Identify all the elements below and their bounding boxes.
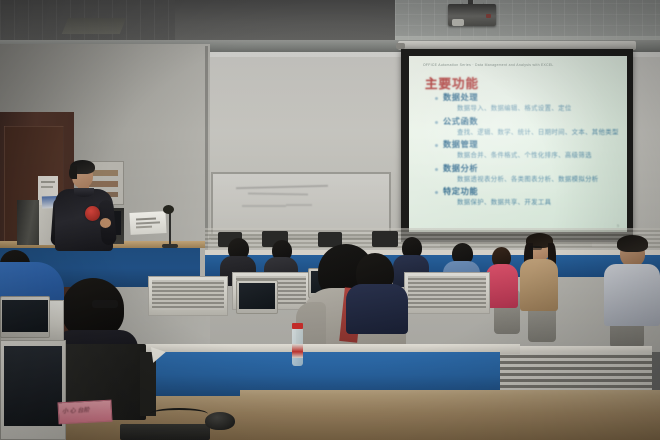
door-notice-line: [41, 181, 55, 183]
whiteboard-writing: [286, 204, 312, 206]
picture-band: [88, 181, 118, 187]
slide-section: 数据分析 数据透视表分析、各类图表分析、数据模拟分析: [435, 163, 625, 185]
slide-section-heading: 公式函数: [435, 116, 625, 128]
slide-section-detail: 数据导入、数据编辑、格式设置、定位: [435, 104, 625, 114]
monitor-screen: [239, 283, 275, 309]
projector-lens: [452, 19, 464, 26]
door-notice-line: [41, 186, 53, 188]
projector-indicator: [486, 14, 491, 18]
classroom-photo: OFFICE Automation Series · Data Manageme…: [0, 0, 660, 440]
microphone-icon[interactable]: [163, 205, 174, 214]
folded-paper-flag: [151, 345, 167, 363]
slide-section-heading: 特定功能: [435, 186, 625, 198]
partition-louver: [152, 280, 224, 310]
student-torso: [520, 259, 558, 311]
bottle-label: [292, 344, 303, 358]
keyboard[interactable]: [120, 424, 210, 440]
mouse-cable: [150, 408, 208, 420]
student-torso: [604, 264, 660, 326]
monitor-back: [372, 231, 398, 247]
instructor-collar: [74, 188, 94, 197]
student-torso: [346, 284, 408, 334]
instructor-shirt-logo: [85, 206, 100, 221]
slide-section-heading: 数据管理: [435, 139, 625, 151]
slide-section-detail: 数据保护、数据共享、开发工具: [435, 198, 625, 208]
student-hair: [617, 235, 648, 252]
student-head: [62, 278, 124, 338]
desktop-tower: [17, 200, 39, 245]
monitor-screen: [2, 300, 48, 332]
bottle-cap: [292, 323, 303, 329]
slide-bullet-list: 数据处理 数据导入、数据编辑、格式设置、定位 公式函数 查找、逻辑、数学、统计、…: [435, 92, 625, 210]
slide-section: 数据管理 数据合并、条件格式、个性化排序、高级筛选: [435, 139, 625, 161]
slide-section-detail: 数据透视表分析、各类图表分析、数据模拟分析: [435, 175, 625, 185]
slide-title: 主要功能: [425, 73, 479, 92]
projection-screen[interactable]: OFFICE Automation Series · Data Manageme…: [409, 56, 627, 232]
slide-section: 公式函数 查找、逻辑、数学、统计、日期时间、文本、其他类型: [435, 116, 625, 138]
instructor-hair-side: [69, 166, 77, 179]
slide-section: 数据处理 数据导入、数据编辑、格式设置、定位: [435, 92, 625, 114]
partition-louver: [408, 276, 486, 308]
microphone-base: [162, 244, 178, 248]
monitor-foreground-left-screen: [4, 346, 62, 426]
slide-section-heading: 数据处理: [435, 92, 625, 104]
air-vent: [62, 18, 126, 34]
computer-mouse[interactable]: [205, 412, 235, 430]
instructor-hand: [100, 218, 111, 228]
microphone-stand: [169, 212, 171, 248]
student-torso: [486, 264, 518, 308]
slide-section-detail: 查找、逻辑、数学、统计、日期时间、文本、其他类型: [435, 128, 625, 138]
slide-section-detail: 数据合并、条件格式、个性化排序、高级筛选: [435, 151, 625, 161]
whiteboard-writing: [242, 205, 286, 207]
glasses-icon: [529, 246, 542, 250]
slide-section: 特定功能 数据保护、数据共享、开发工具: [435, 186, 625, 208]
glasses-icon: [92, 300, 118, 308]
slide-section-heading: 数据分析: [435, 163, 625, 175]
slide-header: OFFICE Automation Series · Data Manageme…: [423, 63, 609, 68]
